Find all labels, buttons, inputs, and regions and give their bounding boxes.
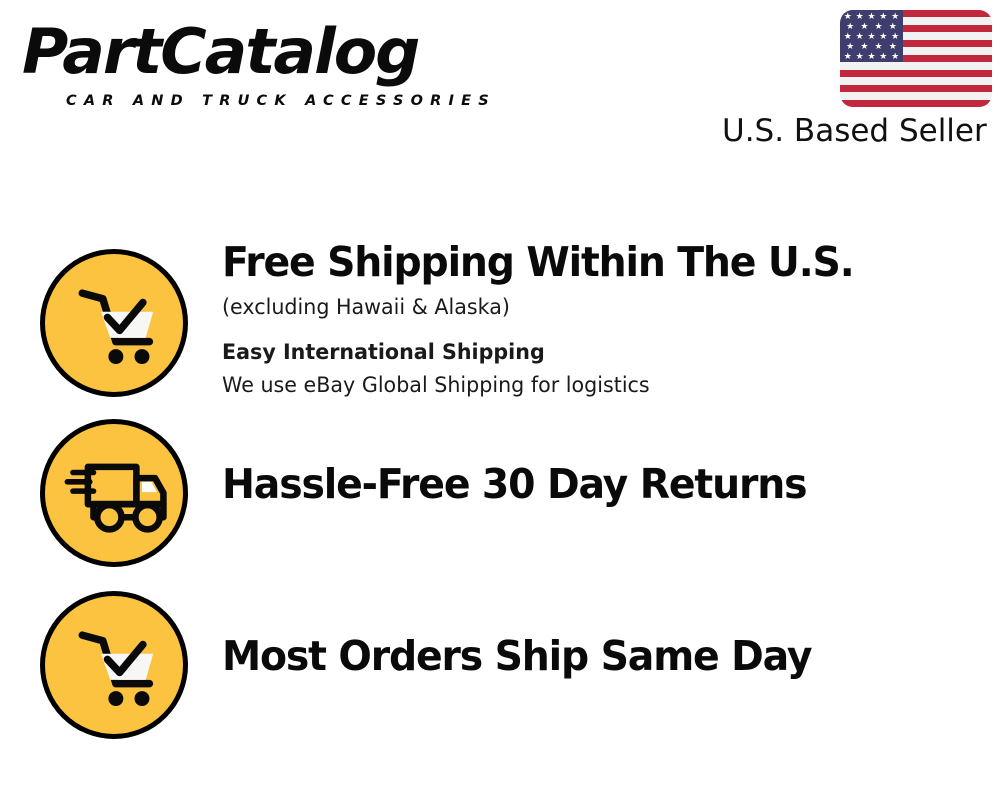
- us-flag-icon: ★★★★★ ★★★★ ★★★★★ ★★★★ ★★★★★: [840, 10, 992, 107]
- us-based-seller-label: U.S. Based Seller: [722, 113, 984, 149]
- shopping-cart-check-icon: [40, 591, 188, 739]
- feature-subline: We use eBay Global Shipping for logistic…: [222, 370, 932, 402]
- feature-title: Most Orders Ship Same Day: [222, 630, 932, 682]
- feature-text: Free Shipping Within The U.S. (excluding…: [222, 236, 962, 402]
- feature-title: Free Shipping Within The U.S.: [222, 236, 932, 288]
- feature-subline: Easy International Shipping: [222, 337, 932, 369]
- us-based-seller-badge: ★★★★★ ★★★★ ★★★★★ ★★★★ ★★★★★ U.S. Based S…: [722, 10, 992, 149]
- brand-logo[interactable]: PartCatalog CAR AND TRUCK ACCESSORIES: [22, 18, 492, 113]
- flag-canton: ★★★★★ ★★★★ ★★★★★ ★★★★ ★★★★★: [840, 10, 903, 62]
- feature-row: Free Shipping Within The U.S. (excluding…: [0, 236, 1000, 412]
- feature-row: Most Orders Ship Same Day: [0, 584, 1000, 756]
- feature-text: Most Orders Ship Same Day: [222, 630, 962, 682]
- feature-subline: (excluding Hawaii & Alaska): [222, 292, 932, 324]
- feature-text: Hassle-Free 30 Day Returns: [222, 458, 962, 510]
- feature-row: Hassle-Free 30 Day Returns: [0, 412, 1000, 584]
- shopping-cart-check-icon: [40, 249, 188, 397]
- feature-title: Hassle-Free 30 Day Returns: [222, 458, 932, 510]
- brand-wordmark: PartCatalog: [22, 18, 418, 86]
- delivery-truck-icon: [40, 419, 188, 567]
- brand-tagline: CAR AND TRUCK ACCESSORIES: [66, 93, 496, 109]
- page-header: PartCatalog CAR AND TRUCK ACCESSORIES ★★…: [0, 0, 1000, 175]
